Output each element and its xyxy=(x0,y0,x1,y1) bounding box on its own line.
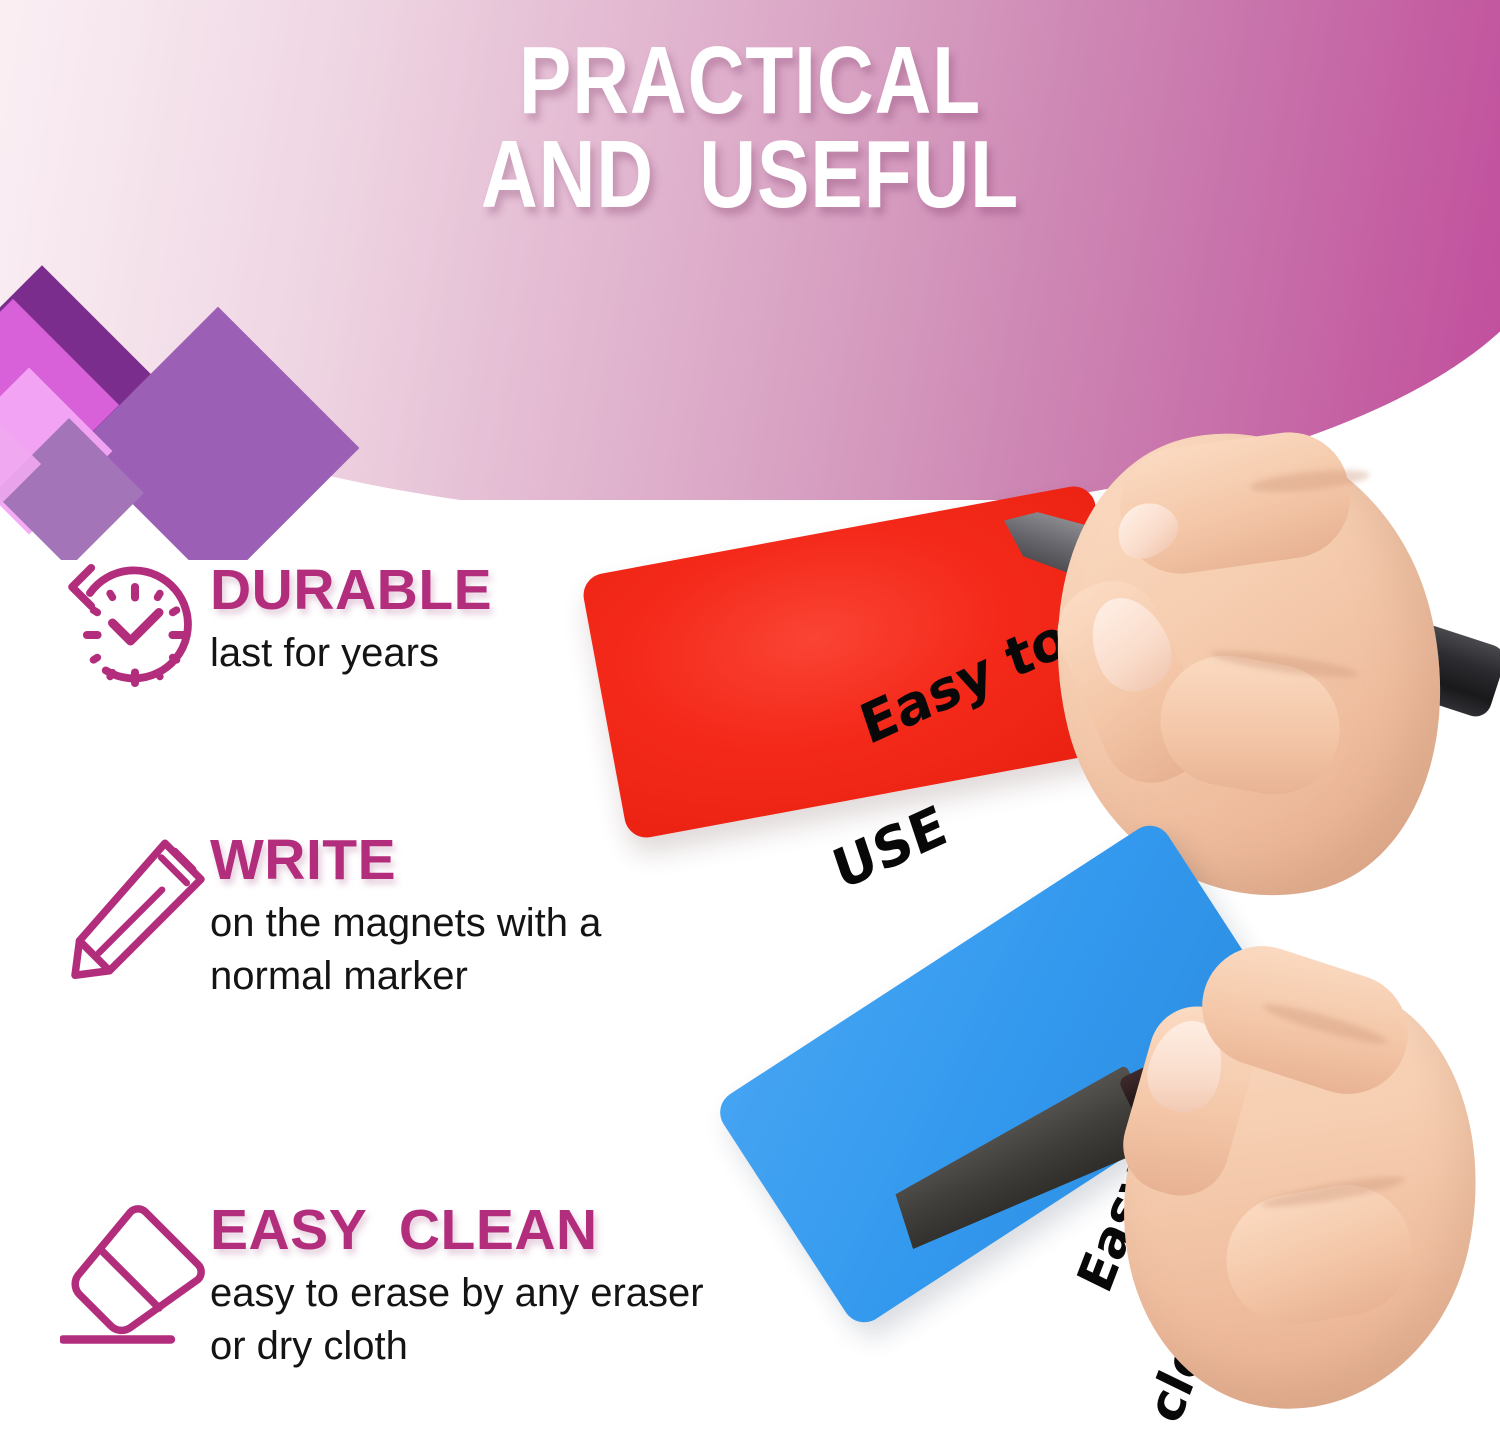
feature-title-durable: DURABLE xyxy=(210,562,780,619)
feature-row-durable: DURABLE last for years xyxy=(60,560,780,710)
red-card-handwriting-line-1: Easy to xyxy=(853,605,1075,757)
feature-text-easy-clean: EASY CLEAN easy to erase by any eraser o… xyxy=(210,1200,800,1373)
eraser-icon-svg xyxy=(60,1200,210,1350)
eraser-icon xyxy=(60,1200,210,1350)
pencil-icon xyxy=(60,830,210,990)
feature-desc-write: on the magnets with a normal marker xyxy=(210,897,730,1003)
feature-title-easy-clean: EASY CLEAN xyxy=(210,1202,800,1259)
feature-text-write: WRITE on the magnets with a normal marke… xyxy=(210,830,800,1003)
clock-arrow-check-icon xyxy=(60,560,210,710)
feature-text-durable: DURABLE last for years xyxy=(210,560,780,680)
feature-row-write: WRITE on the magnets with a normal marke… xyxy=(60,830,800,1003)
feature-desc-easy-clean: easy to erase by any eraser or dry cloth xyxy=(210,1267,730,1373)
feature-row-easy-clean: EASY CLEAN easy to erase by any eraser o… xyxy=(60,1200,800,1373)
feature-title-write: WRITE xyxy=(210,832,800,889)
pencil-icon-svg xyxy=(60,830,210,990)
feature-desc-durable: last for years xyxy=(210,627,730,680)
infographic-canvas: PRACTICAL AND USEFUL Easy to USE Easy xyxy=(0,0,1500,1454)
clock-arrow-check-icon-svg xyxy=(60,560,210,710)
